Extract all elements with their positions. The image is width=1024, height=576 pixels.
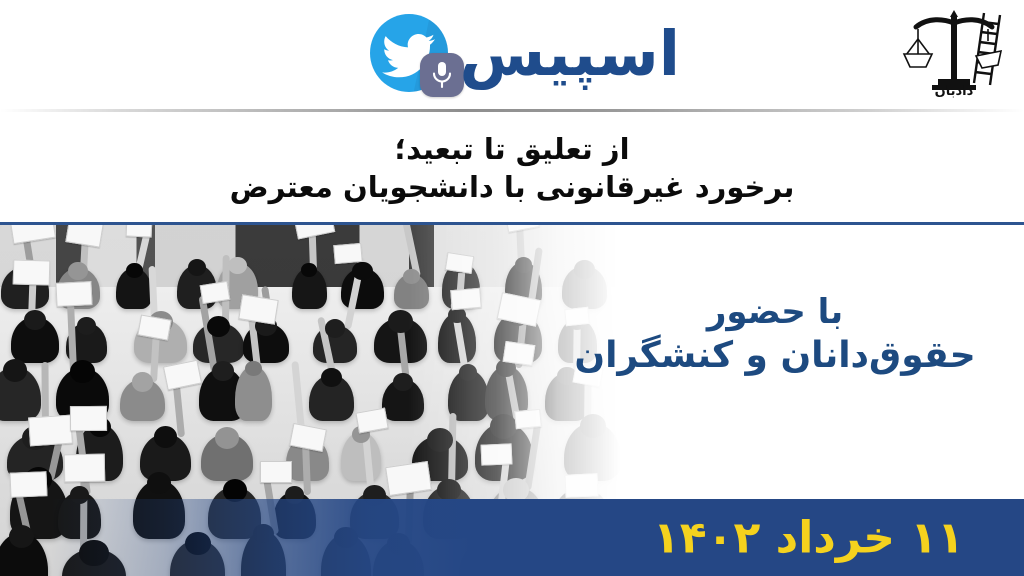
poster-canvas: اسپیس: [0, 0, 1024, 576]
poster-header: اسپیس: [0, 0, 1024, 111]
twitter-spaces-icon: [370, 8, 465, 103]
microphone-icon: [431, 61, 453, 89]
date-band: ۱۱ خرداد ۱۴۰۲: [0, 499, 1024, 576]
title-line-1: از تعلیق تا تبعید؛: [394, 131, 629, 167]
brand-name: دادبان: [902, 84, 1006, 99]
guests-line-2: حقوق‌دانان و کنشگران: [560, 335, 990, 377]
event-date: ۱۱ خرداد ۱۴۰۲: [653, 512, 964, 563]
title-block: از تعلیق تا تبعید؛ برخورد غیرقانونی با د…: [0, 112, 1024, 224]
title-line-2: برخورد غیرقانونی با دانشجویان معترض: [230, 169, 795, 205]
guests-block: با حضور حقوق‌دانان و کنشگران: [560, 292, 990, 378]
guests-line-1: با حضور: [560, 292, 990, 332]
platform-label: اسپیس: [470, 4, 680, 104]
microphone-badge: [420, 53, 464, 97]
